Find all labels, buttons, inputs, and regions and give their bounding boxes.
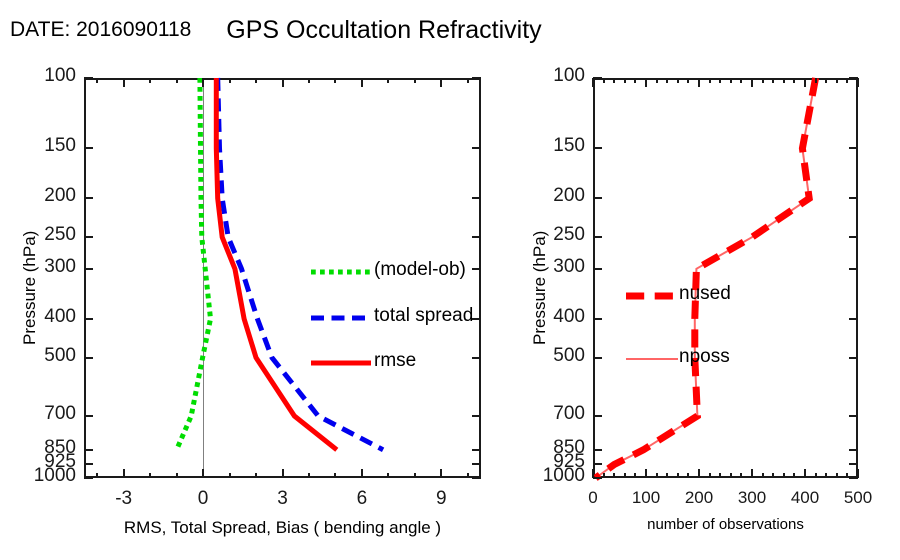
y-tick-925 xyxy=(593,463,602,465)
x-tick-3 xyxy=(282,469,284,478)
x-minor-tick xyxy=(624,473,626,478)
y-tick-label-150: 150 xyxy=(8,135,76,157)
x-minor-tick-top xyxy=(825,78,827,83)
y-tick-250 xyxy=(593,236,602,238)
x-minor-tick-top xyxy=(783,78,785,83)
x-tick-label-9: 9 xyxy=(401,488,481,510)
x-minor-tick xyxy=(730,473,732,478)
x-minor-tick xyxy=(815,473,817,478)
x-minor-tick-top xyxy=(634,78,636,83)
y-tick-right-500 xyxy=(472,357,481,359)
x-tick-top-0 xyxy=(592,78,594,87)
legend-label-rmse: rmse xyxy=(374,350,416,372)
y-tick-200 xyxy=(84,197,93,199)
y-tick-right-850 xyxy=(472,449,481,451)
x-minor-tick-top xyxy=(656,78,658,83)
x-minor-tick-top xyxy=(334,78,336,83)
right-x-axis-label: number of observations xyxy=(533,516,900,533)
y-tick-925 xyxy=(84,463,93,465)
x-tick-300 xyxy=(751,469,753,478)
x-minor-tick xyxy=(334,473,336,478)
x-minor-tick xyxy=(176,473,178,478)
figure-canvas: DATE: 2016090118 GPS Occultation Refract… xyxy=(0,0,900,560)
x-minor-tick-top xyxy=(624,78,626,83)
x-minor-tick xyxy=(719,473,721,478)
y-tick-500 xyxy=(84,357,93,359)
x-minor-tick-top xyxy=(255,78,257,83)
series-line-nused xyxy=(596,78,816,478)
x-minor-tick xyxy=(467,473,469,478)
legend-label-nused: nused xyxy=(679,283,731,305)
x-minor-tick-top xyxy=(149,78,151,83)
x-tick-0 xyxy=(592,469,594,478)
y-tick-label-500: 500 xyxy=(8,345,76,367)
y-tick-label-250: 250 xyxy=(517,224,585,246)
legend-label-total-spread: total spread xyxy=(374,305,473,327)
y-tick-label-300: 300 xyxy=(517,256,585,278)
right-y-axis-label: Pressure (hPa) xyxy=(530,231,550,345)
y-tick-400 xyxy=(593,318,602,320)
x-tick-top-400 xyxy=(804,78,806,87)
y-tick-150 xyxy=(84,147,93,149)
x-tick-top-500 xyxy=(857,78,859,87)
x-minor-tick-top xyxy=(719,78,721,83)
legend-label-nposs: nposs xyxy=(679,346,730,368)
x-minor-tick-top xyxy=(772,78,774,83)
x-minor-tick-top xyxy=(836,78,838,83)
x-minor-tick-top xyxy=(793,78,795,83)
y-tick-right-400 xyxy=(472,318,481,320)
y-tick-400 xyxy=(84,318,93,320)
x-minor-tick-top xyxy=(467,78,469,83)
x-minor-tick-top xyxy=(740,78,742,83)
x-minor-tick-top xyxy=(387,78,389,83)
y-tick-1000 xyxy=(84,477,93,479)
y-tick-label-400: 400 xyxy=(8,306,76,328)
y-tick-label-100: 100 xyxy=(517,65,585,87)
y-tick-label-250: 250 xyxy=(8,224,76,246)
y-tick-300 xyxy=(84,268,93,270)
legend-swatch-rmse xyxy=(311,356,371,370)
x-tick-9 xyxy=(440,469,442,478)
y-tick-label-400: 400 xyxy=(517,306,585,328)
x-minor-tick xyxy=(762,473,764,478)
x-minor-tick-top xyxy=(815,78,817,83)
x-tick-label-6: 6 xyxy=(322,488,402,510)
x-minor-tick xyxy=(656,473,658,478)
y-tick-right-400 xyxy=(849,318,858,320)
y-tick-700 xyxy=(84,415,93,417)
x-tick-top-100 xyxy=(645,78,647,87)
legend-swatch-nused xyxy=(626,289,678,303)
y-tick-right-300 xyxy=(849,268,858,270)
x-minor-tick xyxy=(666,473,668,478)
y-tick-100 xyxy=(593,77,602,79)
y-tick-label-1000: 1000 xyxy=(517,465,585,487)
y-tick-700 xyxy=(593,415,602,417)
x-minor-tick-top xyxy=(229,78,231,83)
x-minor-tick xyxy=(229,473,231,478)
y-tick-label-200: 200 xyxy=(517,185,585,207)
y-tick-right-925 xyxy=(849,463,858,465)
y-tick-label-100: 100 xyxy=(8,65,76,87)
legend-swatch-nposs xyxy=(626,352,678,366)
x-minor-tick xyxy=(634,473,636,478)
x-minor-tick-top xyxy=(687,78,689,83)
y-tick-right-150 xyxy=(849,147,858,149)
x-minor-tick-top xyxy=(603,78,605,83)
x-minor-tick xyxy=(687,473,689,478)
y-tick-300 xyxy=(593,268,602,270)
x-minor-tick xyxy=(825,473,827,478)
y-tick-right-700 xyxy=(472,415,481,417)
y-tick-right-925 xyxy=(472,463,481,465)
y-tick-150 xyxy=(593,147,602,149)
legend-swatch-total-spread xyxy=(311,311,371,325)
x-minor-tick xyxy=(255,473,257,478)
x-tick-top-0 xyxy=(202,78,204,87)
x-tick-top--3 xyxy=(123,78,125,87)
x-minor-tick-top xyxy=(176,78,178,83)
x-minor-tick xyxy=(96,473,98,478)
x-minor-tick xyxy=(772,473,774,478)
x-tick-500 xyxy=(857,469,859,478)
x-minor-tick xyxy=(836,473,838,478)
x-minor-tick-top xyxy=(666,78,668,83)
y-tick-right-1000 xyxy=(472,477,481,479)
x-minor-tick xyxy=(149,473,151,478)
x-minor-tick xyxy=(783,473,785,478)
y-tick-500 xyxy=(593,357,602,359)
x-minor-tick-top xyxy=(762,78,764,83)
x-minor-tick-top xyxy=(414,78,416,83)
x-tick-top-200 xyxy=(698,78,700,87)
x-minor-tick xyxy=(603,473,605,478)
y-tick-right-700 xyxy=(849,415,858,417)
y-tick-right-500 xyxy=(849,357,858,359)
y-tick-250 xyxy=(84,236,93,238)
y-tick-850 xyxy=(593,449,602,451)
x-minor-tick xyxy=(677,473,679,478)
y-tick-200 xyxy=(593,197,602,199)
x-tick-top-6 xyxy=(361,78,363,87)
x-tick-top-3 xyxy=(282,78,284,87)
y-tick-label-700: 700 xyxy=(517,403,585,425)
x-tick-label-3: 3 xyxy=(243,488,323,510)
x-tick-100 xyxy=(645,469,647,478)
legend-swatch--model-ob- xyxy=(311,265,371,279)
y-tick-label-300: 300 xyxy=(8,256,76,278)
y-tick-1000 xyxy=(593,477,602,479)
x-minor-tick xyxy=(846,473,848,478)
y-tick-right-200 xyxy=(849,197,858,199)
series-line-nposs xyxy=(596,78,816,478)
x-tick-200 xyxy=(698,469,700,478)
x-minor-tick-top xyxy=(308,78,310,83)
x-tick-label-500: 500 xyxy=(818,488,898,508)
x-tick-label--3: -3 xyxy=(84,488,164,510)
y-tick-right-250 xyxy=(849,236,858,238)
y-tick-label-500: 500 xyxy=(517,345,585,367)
x-minor-tick-top xyxy=(677,78,679,83)
y-tick-850 xyxy=(84,449,93,451)
y-tick-label-1000: 1000 xyxy=(8,465,76,487)
x-tick-0 xyxy=(202,469,204,478)
x-minor-tick xyxy=(740,473,742,478)
y-tick-label-700: 700 xyxy=(8,403,76,425)
y-tick-label-200: 200 xyxy=(8,185,76,207)
y-tick-100 xyxy=(84,77,93,79)
x-tick-top-300 xyxy=(751,78,753,87)
x-minor-tick xyxy=(613,473,615,478)
x-minor-tick-top xyxy=(730,78,732,83)
x-minor-tick-top xyxy=(613,78,615,83)
legend-label--model-ob-: (model-ob) xyxy=(374,259,466,281)
x-minor-tick xyxy=(308,473,310,478)
x-minor-tick-top xyxy=(846,78,848,83)
y-tick-right-150 xyxy=(472,147,481,149)
x-tick--3 xyxy=(123,469,125,478)
y-tick-label-150: 150 xyxy=(517,135,585,157)
y-tick-right-850 xyxy=(849,449,858,451)
y-tick-right-200 xyxy=(472,197,481,199)
x-minor-tick-top xyxy=(96,78,98,83)
y-tick-right-300 xyxy=(472,268,481,270)
y-tick-right-100 xyxy=(472,77,481,79)
x-tick-label-0: 0 xyxy=(163,488,243,510)
x-minor-tick-top xyxy=(709,78,711,83)
x-tick-400 xyxy=(804,469,806,478)
x-tick-top-9 xyxy=(440,78,442,87)
x-tick-6 xyxy=(361,469,363,478)
x-minor-tick xyxy=(793,473,795,478)
y-tick-right-250 xyxy=(472,236,481,238)
x-minor-tick xyxy=(387,473,389,478)
x-minor-tick xyxy=(414,473,416,478)
x-minor-tick xyxy=(709,473,711,478)
